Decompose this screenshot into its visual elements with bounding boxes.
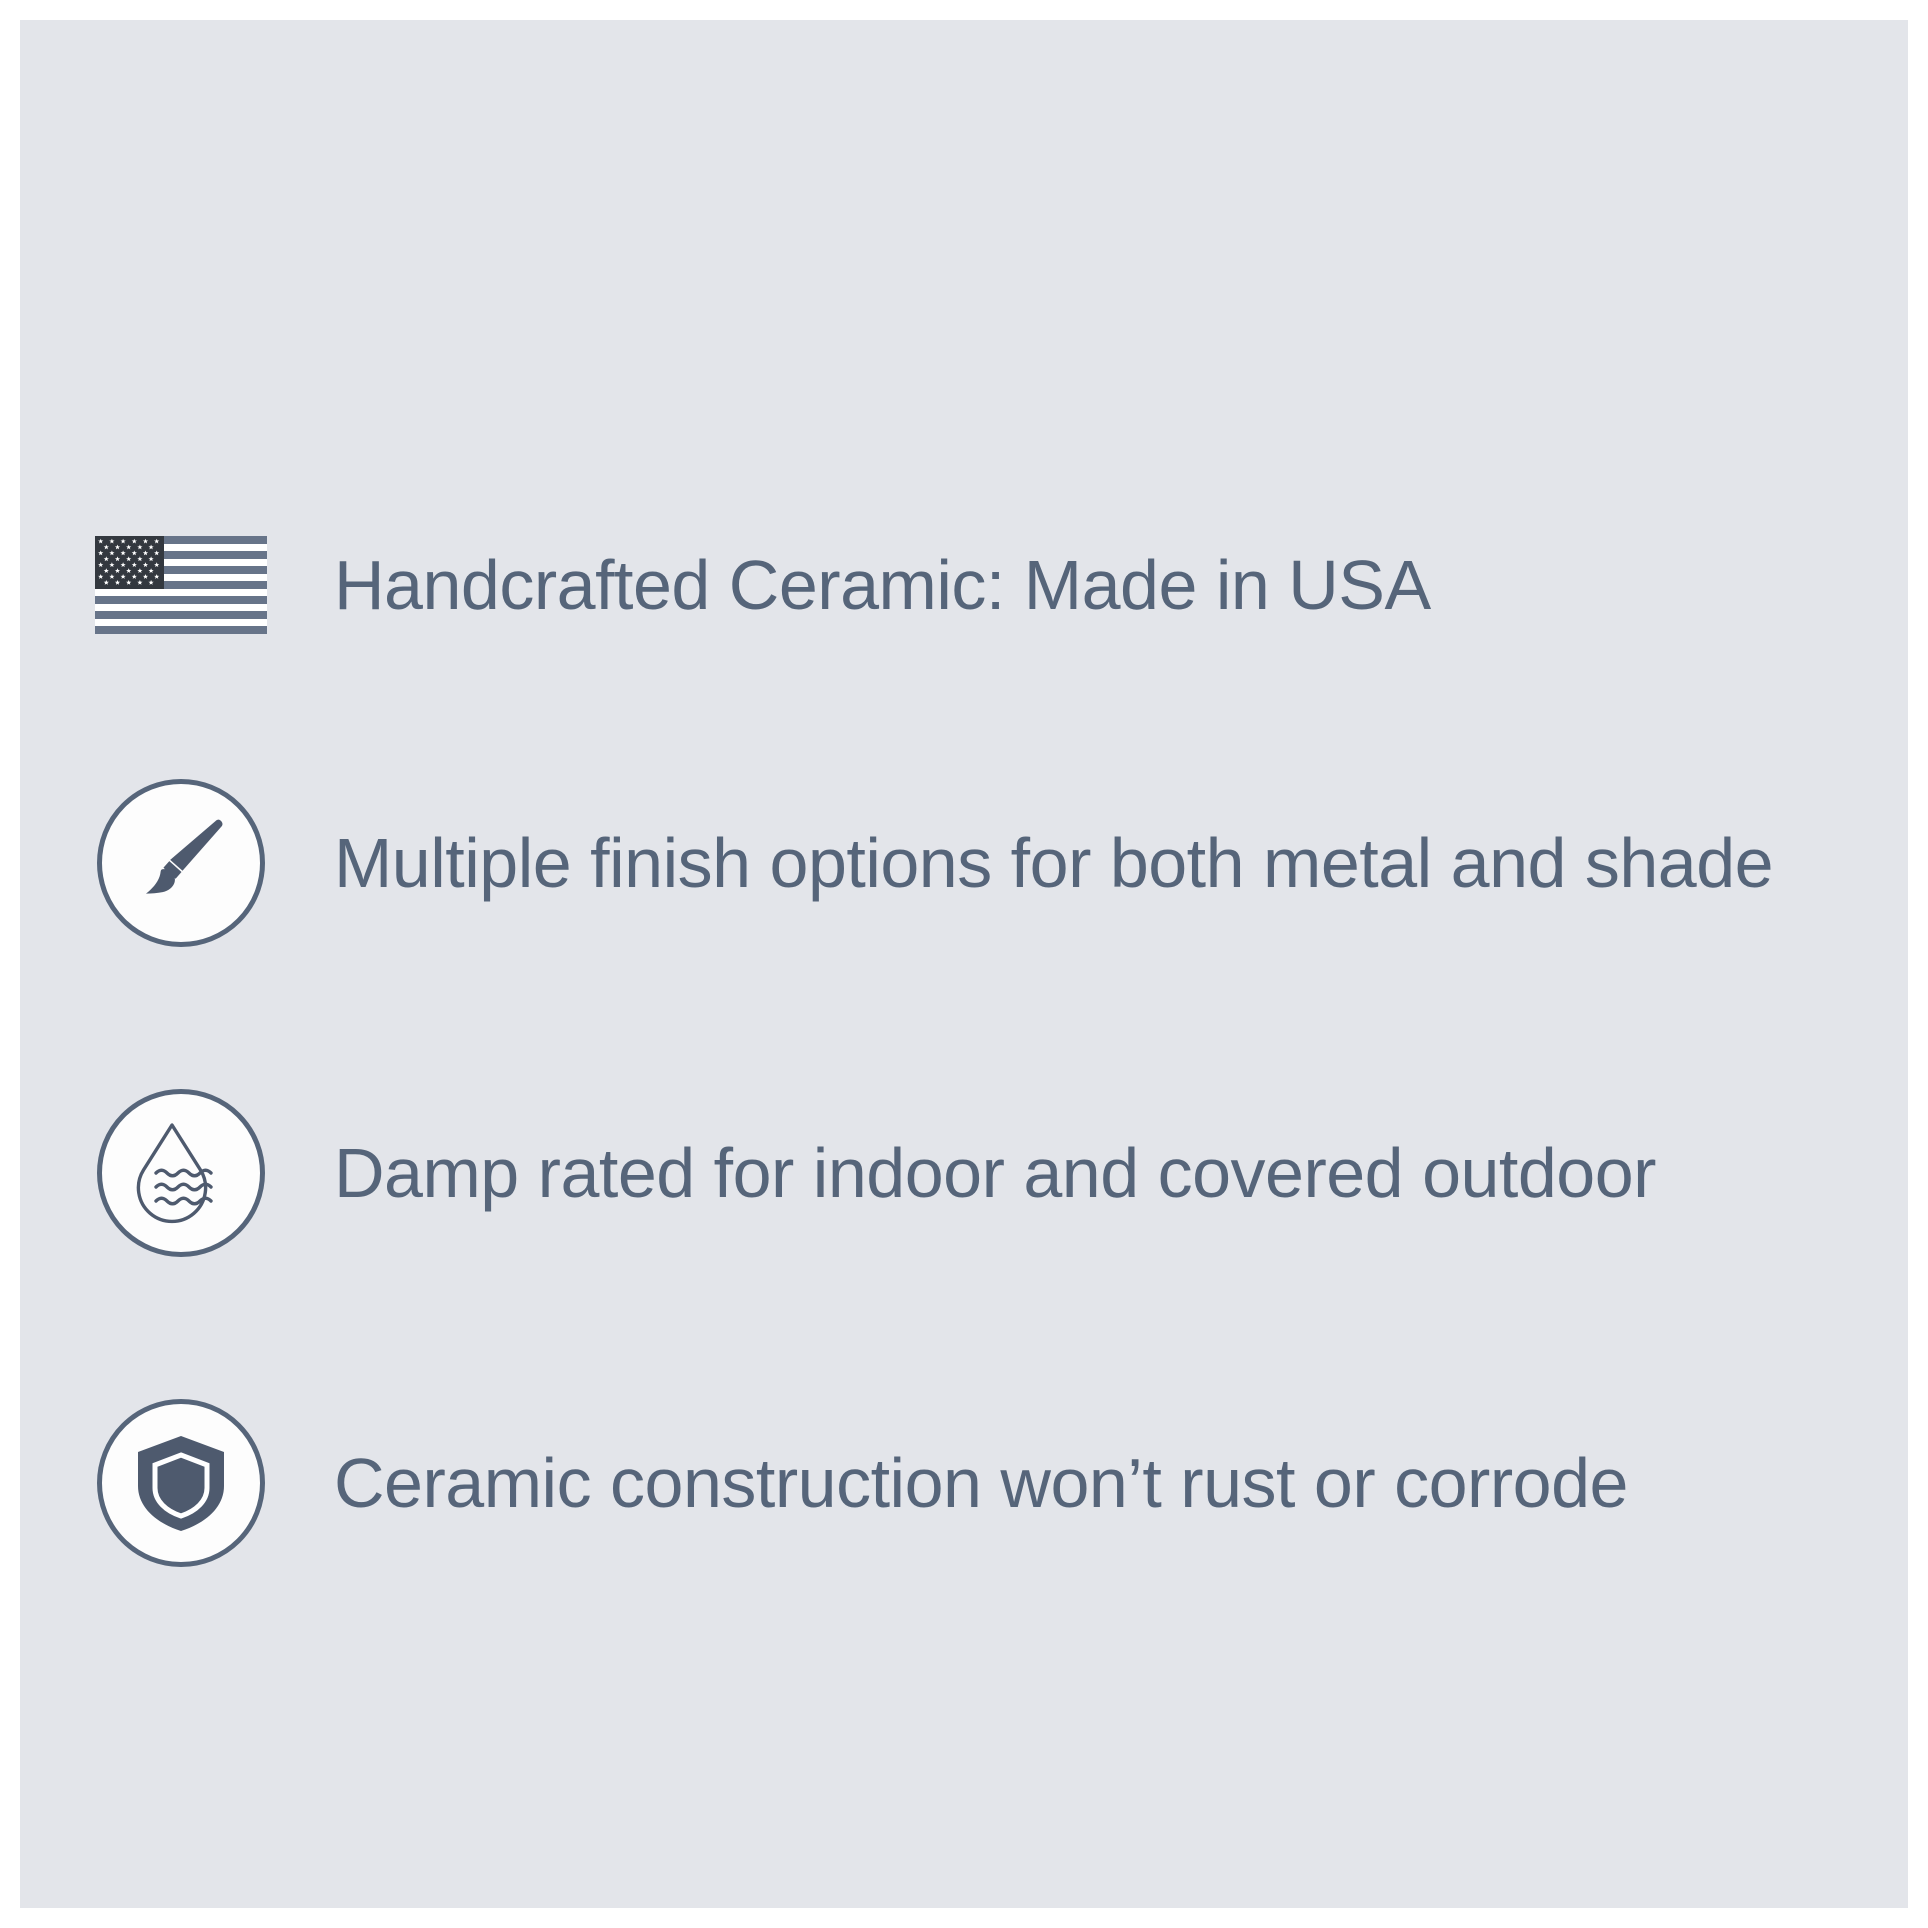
feature-icon-slot — [86, 1078, 276, 1268]
feature-label: Ceramic construction won’t rust or corro… — [334, 1448, 1628, 1518]
feature-icon-slot — [86, 490, 276, 680]
feature-row: Multiple finish options for both metal a… — [86, 768, 1773, 958]
feature-label: Damp rated for indoor and covered outdoo… — [334, 1138, 1656, 1208]
feature-row: Ceramic construction won’t rust or corro… — [86, 1388, 1628, 1578]
feature-panel: Handcrafted Ceramic: Made in USA — [20, 20, 1908, 1908]
feature-icon-slot — [86, 1388, 276, 1578]
feature-row: Handcrafted Ceramic: Made in USA — [86, 490, 1431, 680]
us-flag-icon — [95, 536, 267, 634]
us-flag-canton-icon — [95, 536, 164, 589]
feature-list: Handcrafted Ceramic: Made in USA — [20, 20, 1908, 1908]
feature-label: Multiple finish options for both metal a… — [334, 828, 1773, 898]
feature-icon-slot — [86, 768, 276, 958]
water-drop-icon — [97, 1089, 265, 1257]
shield-icon — [97, 1399, 265, 1567]
feature-label: Handcrafted Ceramic: Made in USA — [334, 550, 1431, 620]
feature-row: Damp rated for indoor and covered outdoo… — [86, 1078, 1656, 1268]
paintbrush-icon — [97, 779, 265, 947]
